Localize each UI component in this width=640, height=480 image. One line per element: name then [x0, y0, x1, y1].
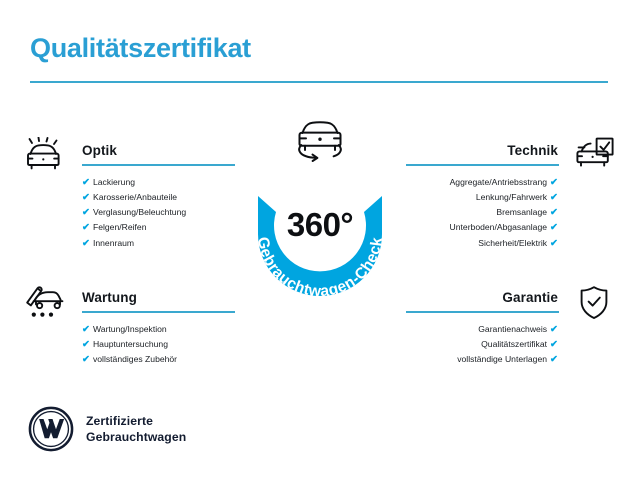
check-icon: ✔	[550, 192, 558, 203]
check-icon: ✔	[550, 339, 558, 350]
check-icon: ✔	[82, 324, 90, 335]
check-icon: ✔	[82, 222, 90, 233]
list-item-label: Wartung/Inspektion	[93, 324, 167, 334]
list-item-label: Garantienachweis	[478, 324, 547, 334]
section-list: Garantienachweis✔ Qualitätszertifikat✔ v…	[406, 322, 558, 368]
footer-text: Zertifizierte Gebrauchtwagen	[86, 413, 186, 445]
section-divider	[82, 311, 235, 313]
shield-check-icon	[570, 283, 616, 323]
check-icon: ✔	[550, 222, 558, 233]
car-shine-icon	[24, 136, 70, 176]
footer-line-1: Zertifizierte	[86, 413, 186, 429]
list-item-label: Karosserie/Anbauteile	[93, 192, 177, 202]
list-item: ✔Wartung/Inspektion	[82, 322, 234, 337]
check-icon: ✔	[550, 207, 558, 218]
section-heading: Technik	[406, 144, 558, 159]
list-item: ✔Lackierung	[82, 175, 234, 190]
check-icon: ✔	[550, 238, 558, 249]
qualitaetszertifikat-page: Qualitätszertifikat	[0, 0, 640, 480]
section-list: ✔Lackierung ✔Karosserie/Anbauteile ✔Verg…	[82, 175, 234, 251]
check-icon: ✔	[82, 238, 90, 249]
check-icon: ✔	[82, 354, 90, 365]
list-item-label: vollständiges Zubehör	[93, 354, 177, 364]
footer-logo-block: Zertifizierte Gebrauchtwagen	[28, 406, 186, 452]
check-icon: ✔	[550, 177, 558, 188]
list-item: Unterboden/Abgasanlage✔	[406, 220, 558, 235]
check-icon: ✔	[82, 339, 90, 350]
check-icon: ✔	[82, 192, 90, 203]
list-item: Bremsanlage✔	[406, 205, 558, 220]
list-item-label: vollständige Unterlagen	[457, 354, 547, 364]
list-item: ✔Hauptuntersuchung	[82, 337, 234, 352]
list-item-label: Unterboden/Abgasanlage	[450, 222, 547, 232]
title-divider	[30, 81, 608, 83]
list-item-label: Verglasung/Beleuchtung	[93, 207, 186, 217]
list-item: Lenkung/Fahrwerk✔	[406, 190, 558, 205]
section-optik: Optik ✔Lackierung ✔Karosserie/Anbauteile…	[24, 144, 234, 251]
badge-degrees: 360°	[236, 206, 404, 244]
section-divider	[82, 164, 235, 166]
section-wartung: Wartung ✔Wartung/Inspektion ✔Hauptunters…	[24, 291, 234, 367]
list-item: ✔Innenraum	[82, 236, 234, 251]
list-item-label: Lackierung	[93, 177, 135, 187]
section-list: ✔Wartung/Inspektion ✔Hauptuntersuchung ✔…	[82, 322, 234, 368]
list-item: ✔Felgen/Reifen	[82, 220, 234, 235]
list-item: Aggregate/Antriebsstrang✔	[406, 175, 558, 190]
section-divider	[406, 311, 559, 313]
section-garantie: Garantie Garantienachweis✔ Qualitätszert…	[406, 291, 616, 367]
page-title: Qualitätszertifikat	[30, 34, 608, 64]
section-technik: Technik Aggregate/Antriebsstrang✔ Lenkun…	[406, 144, 616, 251]
footer-line-2: Gebrauchtwagen	[86, 429, 186, 445]
list-item: Sicherheit/Elektrik✔	[406, 236, 558, 251]
list-item-label: Aggregate/Antriebsstrang	[450, 177, 547, 187]
car-rotate-icon	[288, 116, 352, 168]
list-item: ✔Verglasung/Beleuchtung	[82, 205, 234, 220]
car-service-tool-icon	[24, 283, 70, 323]
check-icon: ✔	[550, 324, 558, 335]
section-heading: Garantie	[406, 291, 558, 306]
check-icon: ✔	[82, 177, 90, 188]
section-heading: Optik	[82, 144, 234, 159]
right-column: Technik Aggregate/Antriebsstrang✔ Lenkun…	[406, 144, 616, 367]
list-item-label: Felgen/Reifen	[93, 222, 147, 232]
list-item-label: Bremsanlage	[496, 207, 547, 217]
section-divider	[406, 164, 559, 166]
left-column: Optik ✔Lackierung ✔Karosserie/Anbauteile…	[24, 144, 234, 367]
list-item: Qualitätszertifikat✔	[406, 337, 558, 352]
list-item-label: Lenkung/Fahrwerk	[476, 192, 547, 202]
section-list: Aggregate/Antriebsstrang✔ Lenkung/Fahrwe…	[406, 175, 558, 251]
list-item-label: Sicherheit/Elektrik	[478, 238, 547, 248]
badge-360-gebrauchtwagen-check: Gebrauchtwagen-Check 360°	[236, 150, 404, 318]
vw-logo-icon	[28, 406, 74, 452]
list-item: vollständige Unterlagen✔	[406, 352, 558, 367]
list-item-label: Qualitätszertifikat	[481, 339, 547, 349]
list-item: Garantienachweis✔	[406, 322, 558, 337]
check-icon: ✔	[82, 207, 90, 218]
section-heading: Wartung	[82, 291, 234, 306]
list-item-label: Hauptuntersuchung	[93, 339, 168, 349]
list-item: ✔Karosserie/Anbauteile	[82, 190, 234, 205]
list-item-label: Innenraum	[93, 238, 134, 248]
list-item: ✔vollständiges Zubehör	[82, 352, 234, 367]
check-icon: ✔	[550, 354, 558, 365]
car-checkbox-icon	[570, 136, 616, 176]
title-block: Qualitätszertifikat	[30, 34, 608, 83]
